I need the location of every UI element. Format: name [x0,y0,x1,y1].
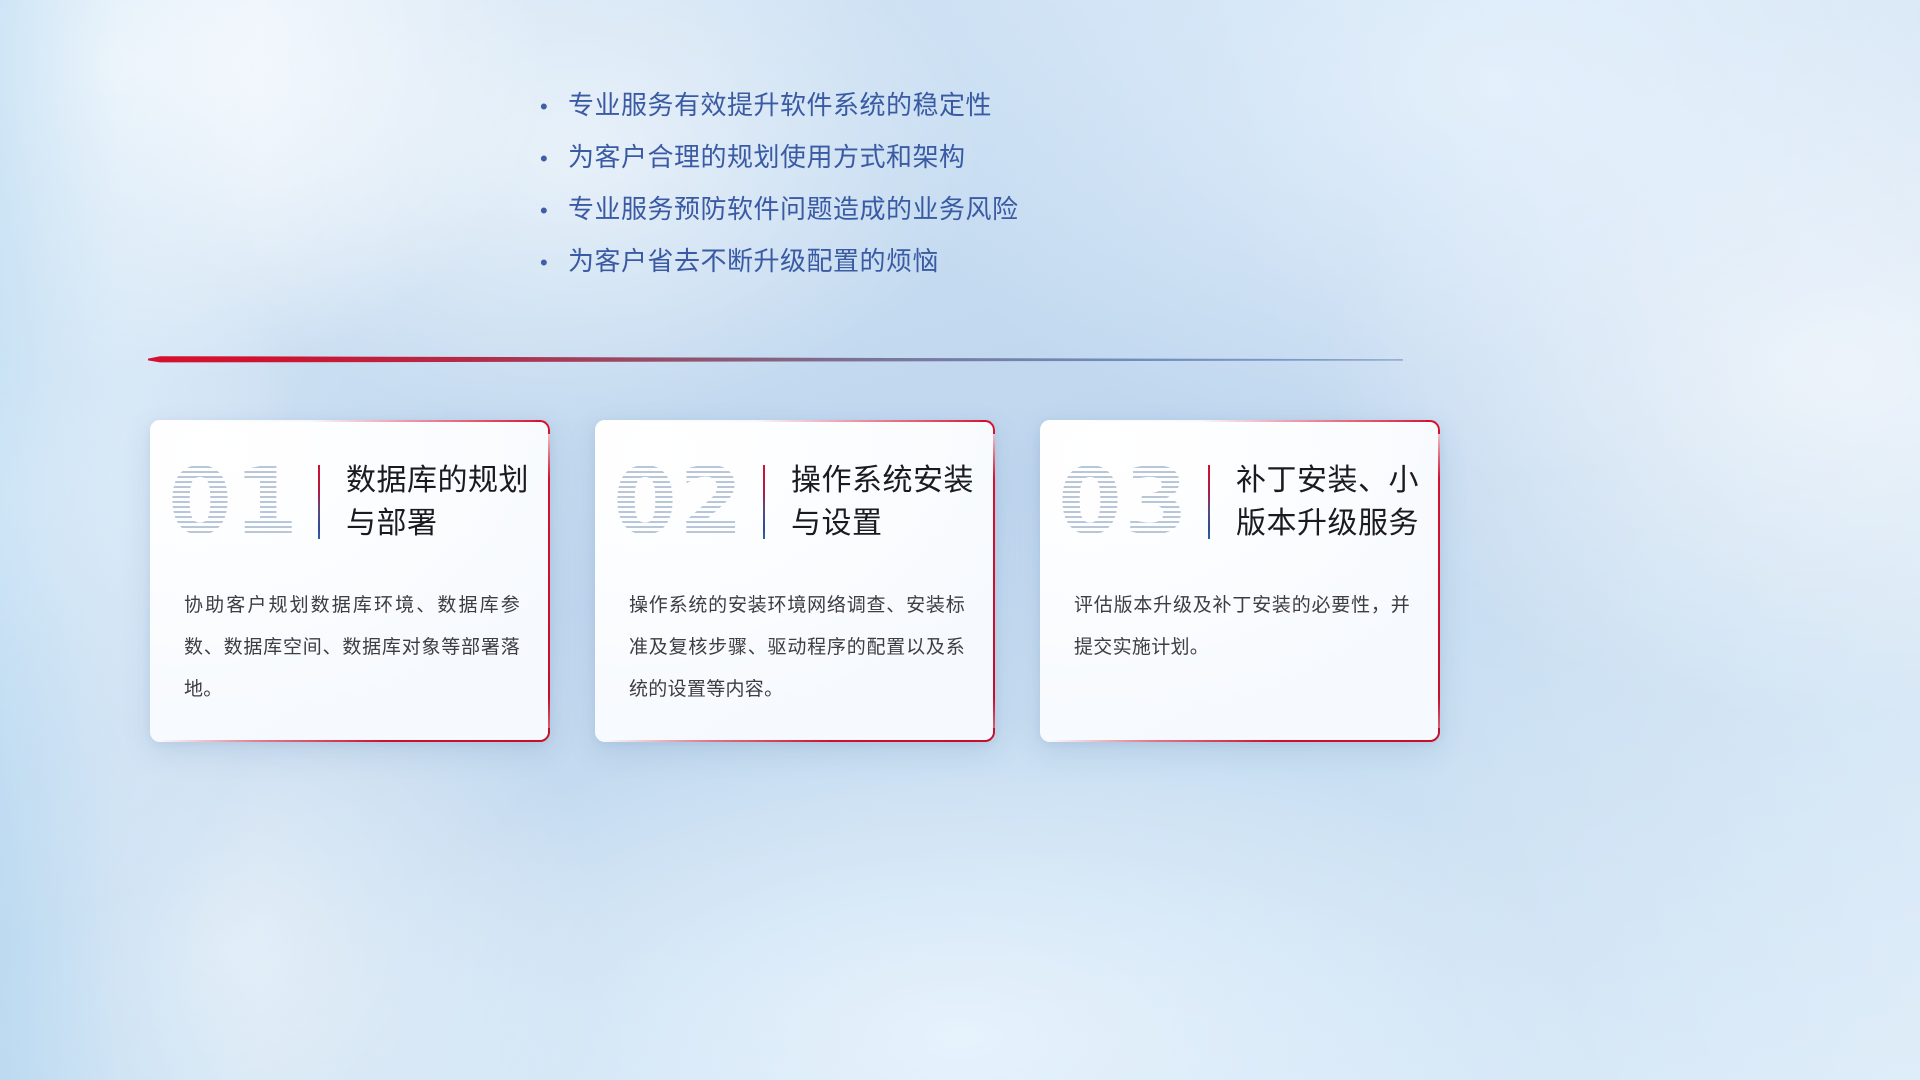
card-title-line: 版本升级服务 [1236,502,1426,545]
card-number-watermark: 01 [150,446,318,558]
gradient-rule-icon [148,350,1403,366]
bullet-item-label: 为客户合理的规划使用方式和架构 [568,140,966,174]
card-description: 协助客户规划数据库环境、数据库参数、数据库空间、数据库对象等部署落地。 [184,585,520,711]
card-corner-top-right [981,420,995,434]
bullet-marker-icon: • [540,194,568,228]
card-title-line: 操作系统安装 [791,459,981,502]
card-title: 数据库的规划 与部署 [346,459,550,545]
bullet-item: • 为客户省去不断升级配置的烦恼 [540,244,1180,280]
card-top-accent [597,420,993,422]
card-title: 操作系统安装 与设置 [791,459,995,545]
card-header: 01 数据库的规划 与部署 [150,442,550,562]
card-title-line: 与设置 [791,502,981,545]
service-card[interactable]: 01 数据库的规划 与部署 协助客户规划数据库环境、数据库参数、数据库空间、数据… [150,420,550,742]
bullet-marker-icon: • [540,90,568,124]
bullet-item: • 为客户合理的规划使用方式和架构 [540,140,1180,176]
card-description: 操作系统的安装环境网络调查、安装标准及复核步骤、驱动程序的配置以及系统的设置等内… [629,585,965,711]
card-top-accent [1042,420,1438,422]
card-title-line: 与部署 [346,502,536,545]
bullet-item-label: 为客户省去不断升级配置的烦恼 [568,244,939,278]
service-card[interactable]: 02 操作系统安装 与设置 操作系统的安装环境网络调查、安装标准及复核步骤、驱动… [595,420,995,742]
card-header: 02 操作系统安装 与设置 [595,442,995,562]
card-title-line: 数据库的规划 [346,459,536,502]
card-number-watermark: 03 [1040,446,1208,558]
card-number-watermark: 02 [595,446,763,558]
card-title-line: 补丁安装、小 [1236,459,1426,502]
card-description: 评估版本升级及补丁安装的必要性，并提交实施计划。 [1074,585,1410,669]
bullet-item-label: 专业服务有效提升软件系统的稳定性 [568,88,992,122]
service-card-deck: 01 数据库的规划 与部署 协助客户规划数据库环境、数据库参数、数据库空间、数据… [150,420,1450,745]
bullet-marker-icon: • [540,246,568,280]
benefits-bullet-list: • 专业服务有效提升软件系统的稳定性 • 为客户合理的规划使用方式和架构 • 专… [540,88,1180,296]
card-bottom-accent [605,740,995,742]
card-title-divider [1208,465,1210,539]
bullet-marker-icon: • [540,142,568,176]
card-top-accent [152,420,548,422]
card-bottom-accent [160,740,550,742]
card-title-divider [763,465,765,539]
service-card[interactable]: 03 补丁安装、小 版本升级服务 评估版本升级及补丁安装的必要性，并提交实施计划… [1040,420,1440,742]
card-title-divider [318,465,320,539]
card-corner-top-right [536,420,550,434]
card-header: 03 补丁安装、小 版本升级服务 [1040,442,1440,562]
card-bottom-accent [1050,740,1440,742]
bullet-item: • 专业服务有效提升软件系统的稳定性 [540,88,1180,124]
section-divider [148,350,1403,366]
card-title: 补丁安装、小 版本升级服务 [1236,459,1440,545]
bullet-item-label: 专业服务预防软件问题造成的业务风险 [568,192,1019,226]
bullet-item: • 专业服务预防软件问题造成的业务风险 [540,192,1180,228]
card-corner-top-right [1426,420,1440,434]
